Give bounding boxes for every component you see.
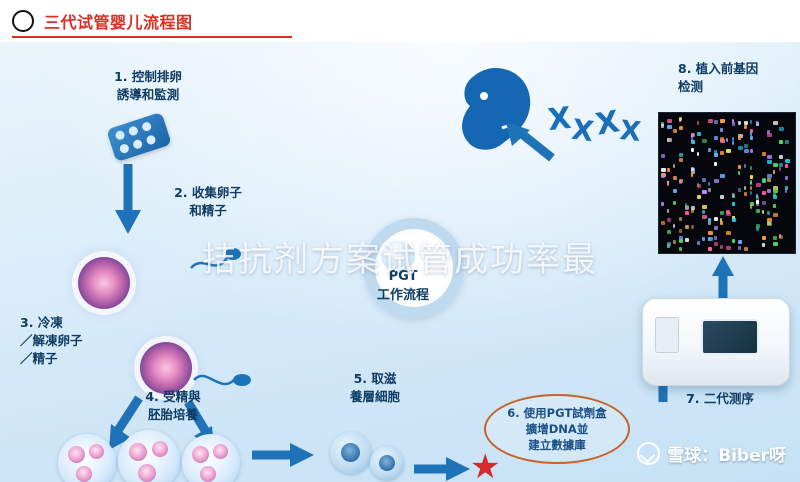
sequencer-screen [701, 319, 759, 355]
step7-label: 7. 二代测序 [660, 390, 780, 408]
morula-icon-3 [182, 434, 240, 482]
arrow-step1-to-step3 [112, 162, 146, 236]
title-underline [12, 36, 292, 38]
sperm-icon-upper [185, 232, 245, 282]
red-star-icon: ★ [470, 450, 500, 482]
cell-biopsy-icon-2 [370, 446, 404, 480]
step8-label: 8. 植入前基因 检测 [678, 60, 790, 96]
arrow-step5-to-step6 [412, 454, 472, 482]
chromosome-icon-2: X [570, 113, 596, 149]
morula-icon-2 [118, 430, 180, 482]
brand-text: 雪球：Biber呀 [667, 441, 786, 466]
circle-outline-icon [12, 10, 34, 32]
step6-callout: 6. 使用PGT試劑盒 擴增DNA並 建立數據庫 [484, 394, 630, 464]
gel-electrophoresis-icon [658, 112, 796, 254]
chromosome-icon-4: X [618, 115, 642, 148]
ivf-process-diagram: 1. 控制排卵 誘導和監測 2. 收集卵子 和精子 3. 冷凍 ／解凍卵子 ／精… [0, 42, 800, 482]
center-label: PGT 工作流程 [340, 268, 466, 306]
arrow-step4-to-step5 [250, 440, 316, 470]
cell-biopsy-icon-1 [330, 432, 372, 474]
egg-cell-icon [78, 257, 130, 309]
brand-badge: 雪球：Biber呀 [637, 441, 786, 466]
sequencer-machine-icon [642, 298, 790, 386]
step4-label: 4. 受精與 胚胎培養 [108, 388, 238, 424]
page-title: 三代试管婴儿流程图 [44, 9, 193, 33]
pill-pack-icon [106, 112, 172, 162]
chromosome-icon-3: X [593, 104, 622, 142]
sequencer-slot [655, 317, 679, 353]
step2-label: 2. 收集卵子 和精子 [148, 184, 268, 220]
chromosome-icon-1: X [546, 101, 573, 138]
xueqiu-logo-icon [637, 442, 660, 465]
arrow-step7-to-step8 [708, 254, 738, 300]
step5-label: 5. 取滋 養層細胞 [320, 370, 430, 406]
fertilized-egg-icon [140, 342, 192, 394]
step1-label: 1. 控制排卵 誘導和監測 [78, 68, 218, 104]
arrow-step8-to-fetus [500, 120, 556, 164]
page-header: 三代试管婴儿流程图 [0, 0, 800, 42]
step3-label: 3. 冷凍 ／解凍卵子 ／精子 [20, 314, 130, 368]
